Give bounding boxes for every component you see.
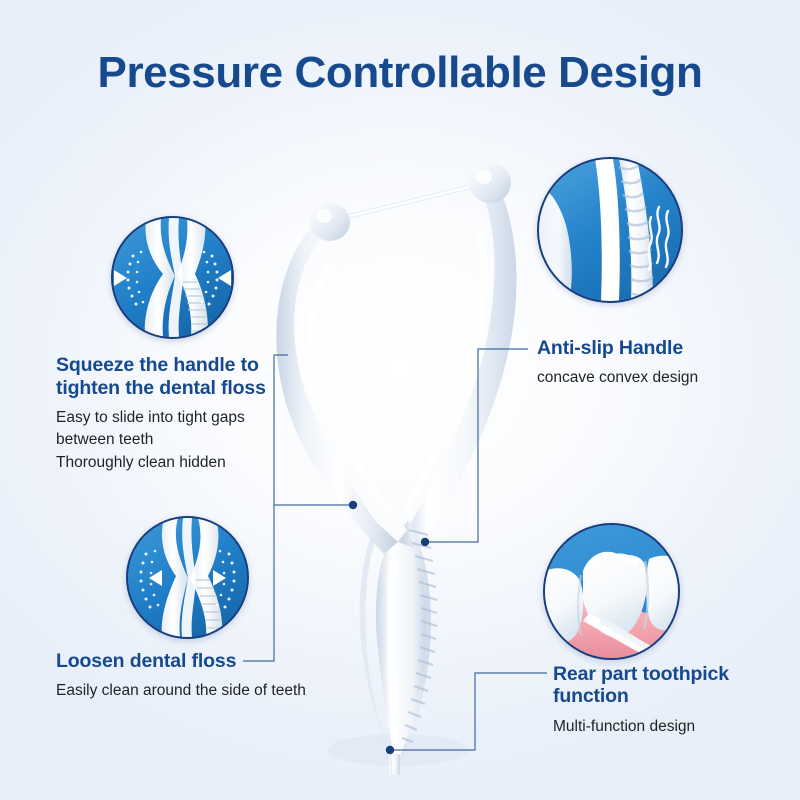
feature-heading-loosen: Loosen dental floss <box>56 650 311 673</box>
feature-heading-squeeze: Squeeze the handle to tighten the dental… <box>56 354 306 400</box>
feature-body-loosen: Easily clean around the side of teeth <box>56 680 311 702</box>
feature-heading-rear: Rear part toothpick function <box>553 663 783 707</box>
teeth-toothpick-icon <box>545 525 678 658</box>
feature-block-rear: Rear part toothpick function Multi-funct… <box>553 663 783 739</box>
floss-squeeze-inward-arrows-icon <box>113 218 232 337</box>
feature-body-rear: Multi-function design <box>553 716 783 738</box>
ridged-handle-icon <box>539 159 681 301</box>
callout-circle-rear-toothpick <box>543 523 680 660</box>
feature-block-loosen: Loosen dental floss Easily clean around … <box>56 650 311 702</box>
feature-body-antislip: concave convex design <box>537 367 787 389</box>
feature-block-antislip: Anti-slip Handle concave convex design <box>537 337 787 389</box>
callout-circle-antislip <box>537 157 683 303</box>
infographic-page: Pressure Controllable Design <box>0 0 800 800</box>
feature-block-squeeze: Squeeze the handle to tighten the dental… <box>56 354 306 474</box>
floss-loosen-outward-arrows-icon <box>128 518 247 637</box>
page-title: Pressure Controllable Design <box>0 48 800 98</box>
feature-body-squeeze: Easy to slide into tight gaps between te… <box>56 407 306 474</box>
feature-heading-antislip: Anti-slip Handle <box>537 337 787 360</box>
callout-circle-squeeze <box>111 216 234 339</box>
callout-circle-loosen <box>126 516 249 639</box>
